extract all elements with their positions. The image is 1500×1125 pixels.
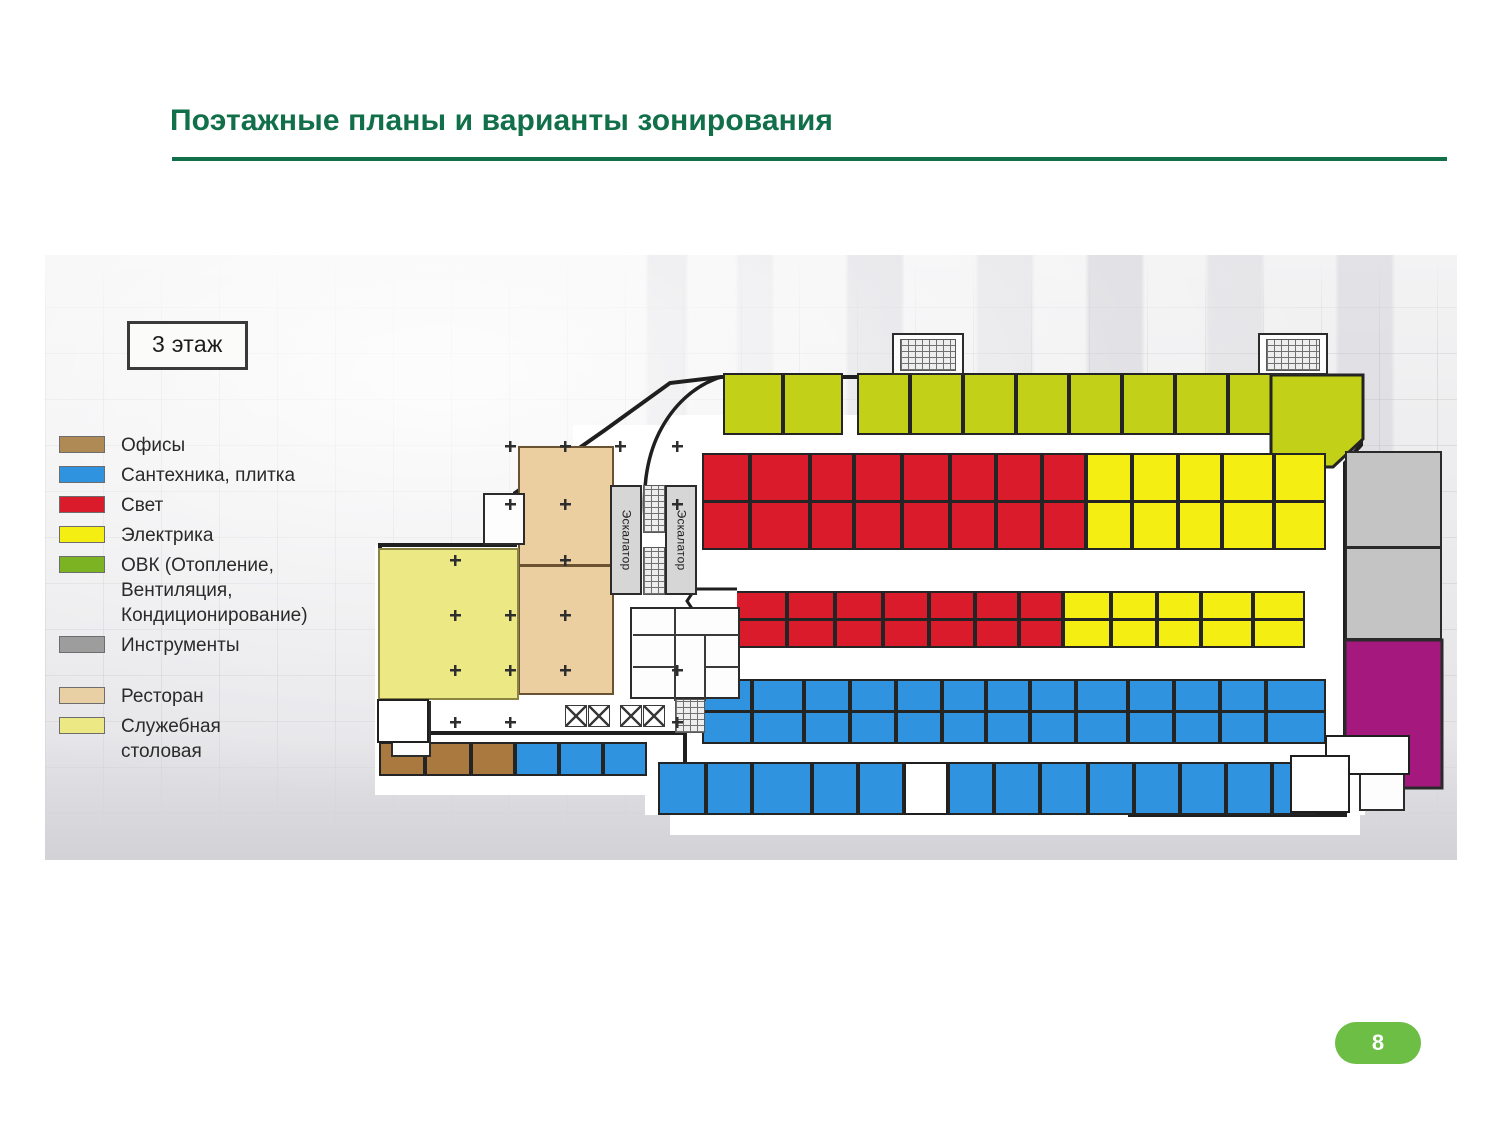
plan-cell[interactable]: [752, 711, 804, 744]
column-marker: [672, 665, 683, 676]
plan-cell[interactable]: [1174, 711, 1220, 744]
plan-cell[interactable]: [986, 679, 1030, 712]
page-number: 8: [1372, 1030, 1384, 1056]
plan-cell[interactable]: [1266, 679, 1326, 712]
plan-cell[interactable]: [1111, 591, 1157, 620]
column-marker: [505, 610, 516, 621]
zone-light-electric-upper-row2: [702, 501, 1326, 550]
plan-cell[interactable]: [994, 762, 1040, 815]
plan-cell[interactable]: [1111, 619, 1157, 648]
plan-cell[interactable]: [1019, 591, 1063, 620]
zone-light-electric-middle-row2: [735, 619, 1305, 648]
plan-cell[interactable]: [804, 679, 850, 712]
title-underline: [172, 157, 1447, 161]
plan-cell[interactable]: [787, 619, 835, 648]
plan-cell[interactable]: [706, 762, 752, 815]
plan-cell[interactable]: [658, 762, 706, 815]
plan-cell[interactable]: [857, 373, 910, 435]
plan-cell[interactable]: [750, 501, 810, 550]
plan-cell[interactable]: [1086, 453, 1132, 502]
column-marker: [560, 499, 571, 510]
plan-cell[interactable]: [783, 373, 843, 435]
plan-cell[interactable]: [883, 619, 929, 648]
plan-cell[interactable]: [1069, 373, 1122, 435]
plan-cell[interactable]: [1174, 679, 1220, 712]
zone-plumbing-row2: [702, 711, 1326, 744]
plan-cell[interactable]: [850, 711, 896, 744]
plan-cell[interactable]: [854, 501, 902, 550]
plan-cell[interactable]: [752, 679, 804, 712]
plan-cell[interactable]: [1222, 501, 1274, 550]
plan-cell[interactable]: [1076, 711, 1128, 744]
hvac-segment-1: [723, 373, 843, 435]
room-left-lower: [377, 699, 429, 743]
plan-cell[interactable]: [559, 742, 603, 776]
column-marker: [505, 441, 516, 452]
stair-frame-bottomright: [1359, 769, 1405, 811]
plan-cell[interactable]: [1220, 679, 1266, 712]
plan-cell[interactable]: [948, 762, 994, 815]
plan-cell[interactable]: [1042, 501, 1086, 550]
escalator-label-right: Эскалатор: [674, 510, 688, 571]
column-marker: [450, 665, 461, 676]
wc-icon-core-b: [588, 705, 610, 727]
page-title: Поэтажные планы и варианты зонирования: [170, 104, 1450, 138]
column-marker: [672, 717, 683, 728]
column-marker: [672, 499, 683, 510]
escalator-label-left: Эскалатор: [619, 510, 633, 571]
plan-cell[interactable]: [1086, 501, 1132, 550]
service-core-partitions: [627, 605, 747, 705]
zone-canteen[interactable]: [378, 548, 519, 700]
plan-cell[interactable]: [1253, 591, 1305, 620]
plan-cell[interactable]: [1266, 711, 1326, 744]
plan-cell[interactable]: [896, 679, 942, 712]
room-bottom-right-b: [1290, 755, 1350, 813]
plan-cell[interactable]: [910, 373, 963, 435]
plan-cell[interactable]: [750, 453, 810, 502]
hvac-segment-2: [857, 373, 1272, 435]
plan-cell[interactable]: [425, 742, 471, 776]
plan-cell[interactable]: [975, 619, 1019, 648]
plan-cell[interactable]: [996, 453, 1042, 502]
plan-cell[interactable]: [1063, 619, 1111, 648]
plan-cell[interactable]: [996, 501, 1042, 550]
plan-cell[interactable]: [929, 591, 975, 620]
plan-cell[interactable]: [929, 619, 975, 648]
plan-cell[interactable]: [1201, 591, 1253, 620]
stair-frame-left-upper: [483, 493, 525, 545]
plan-cell[interactable]: [471, 742, 515, 776]
plan-cell[interactable]: [835, 591, 883, 620]
plan-cell[interactable]: [1122, 373, 1175, 435]
stairwell-hatch-top-right: [1266, 339, 1320, 371]
zone-plumbing-bottom-seg1: [658, 762, 904, 815]
plan-cell[interactable]: [1253, 619, 1305, 648]
zone-plumbing-bottom-seg2: [948, 762, 1316, 815]
column-marker: [615, 441, 626, 452]
floor-plan-figure: 3 этаж Офисы Сантехника, плитка Свет Эле…: [45, 255, 1457, 860]
page-number-badge: 8: [1335, 1022, 1421, 1064]
wc-icon-core-d: [643, 705, 665, 727]
plan-cell[interactable]: [896, 711, 942, 744]
plan-cell[interactable]: [902, 501, 950, 550]
zone-light-electric-middle-row1: [735, 591, 1305, 620]
column-marker: [560, 610, 571, 621]
plan-cell[interactable]: [1042, 453, 1086, 502]
plan-cell[interactable]: [1132, 501, 1178, 550]
plan-cell[interactable]: [1063, 591, 1111, 620]
plan-cell[interactable]: [1201, 619, 1253, 648]
plan-cell[interactable]: [1178, 453, 1222, 502]
plan-cell[interactable]: [1228, 373, 1272, 435]
plan-cell[interactable]: [752, 762, 812, 815]
column-marker: [505, 717, 516, 728]
plan-cell[interactable]: [812, 762, 858, 815]
plan-cell[interactable]: [1226, 762, 1272, 815]
column-marker: [672, 441, 683, 452]
plan-cell[interactable]: [975, 591, 1019, 620]
plan-cell[interactable]: [854, 453, 902, 502]
plan-cell[interactable]: [1040, 762, 1088, 815]
zone-hvac-top: [723, 373, 1318, 435]
zone-tools-2[interactable]: [1345, 547, 1442, 640]
plan-cell[interactable]: [1128, 679, 1174, 712]
zone-tools-1[interactable]: [1345, 451, 1442, 548]
plan-cell[interactable]: [1030, 711, 1076, 744]
wc-icon-core-c: [620, 705, 642, 727]
plan-cell[interactable]: [1128, 711, 1174, 744]
column-marker: [450, 555, 461, 566]
bottom-row-gap: [904, 762, 948, 815]
plan-cell[interactable]: [942, 711, 986, 744]
column-marker: [560, 441, 571, 452]
plan-cell[interactable]: [787, 591, 835, 620]
plan-cell[interactable]: [950, 501, 996, 550]
plan-cell[interactable]: [1274, 501, 1326, 550]
escalator-stair-hatch-lower: [643, 547, 665, 595]
plan-cell[interactable]: [723, 373, 783, 435]
plan-cell[interactable]: [1178, 501, 1222, 550]
plan-cell[interactable]: [963, 373, 1016, 435]
plan-cell[interactable]: [986, 711, 1030, 744]
plan-cell[interactable]: [1030, 679, 1076, 712]
column-marker: [450, 610, 461, 621]
plan-cell[interactable]: [603, 742, 647, 776]
plan-cell[interactable]: [1076, 679, 1128, 712]
plan-cell[interactable]: [942, 679, 986, 712]
plan-cell[interactable]: [858, 762, 904, 815]
escalator-left[interactable]: Эскалатор: [610, 485, 642, 595]
plan-cell[interactable]: [1132, 453, 1178, 502]
plan-cell[interactable]: [1157, 619, 1201, 648]
wc-icon-core-a: [565, 705, 587, 727]
stairwell-hatch-top-left: [900, 339, 956, 371]
plan-cell[interactable]: [810, 501, 854, 550]
plan-cell[interactable]: [1222, 453, 1274, 502]
column-marker: [560, 665, 571, 676]
plan-cell[interactable]: [702, 711, 752, 744]
plan-cell[interactable]: [1274, 453, 1326, 502]
plan-cell[interactable]: [835, 619, 883, 648]
plan-cell[interactable]: [1220, 711, 1266, 744]
plan-cell[interactable]: [1180, 762, 1226, 815]
plan-cell[interactable]: [1157, 591, 1201, 620]
plan-cell[interactable]: [950, 453, 996, 502]
plan-cell[interactable]: [1088, 762, 1134, 815]
escalator-stair-hatch: [643, 485, 665, 533]
column-marker: [505, 665, 516, 676]
plan-cell[interactable]: [1019, 619, 1063, 648]
plan-cell[interactable]: [1134, 762, 1180, 815]
column-marker: [450, 717, 461, 728]
column-marker: [560, 555, 571, 566]
plan-cell[interactable]: [804, 711, 850, 744]
plan-cell[interactable]: [902, 453, 950, 502]
plan-cell[interactable]: [1016, 373, 1069, 435]
zone-plumbing-row1: [702, 679, 1326, 712]
column-marker: [505, 499, 516, 510]
plan-cell[interactable]: [702, 453, 750, 502]
plan-cell[interactable]: [1175, 373, 1228, 435]
plan-cell[interactable]: [850, 679, 896, 712]
plan-cell[interactable]: [515, 742, 559, 776]
zone-light-electric-upper-row1: [702, 453, 1326, 502]
plan-cell[interactable]: [810, 453, 854, 502]
plan-cell[interactable]: [702, 501, 750, 550]
plan-cell[interactable]: [883, 591, 929, 620]
floor-plan-drawing: Эскалатор Эскалатор: [45, 255, 1457, 860]
